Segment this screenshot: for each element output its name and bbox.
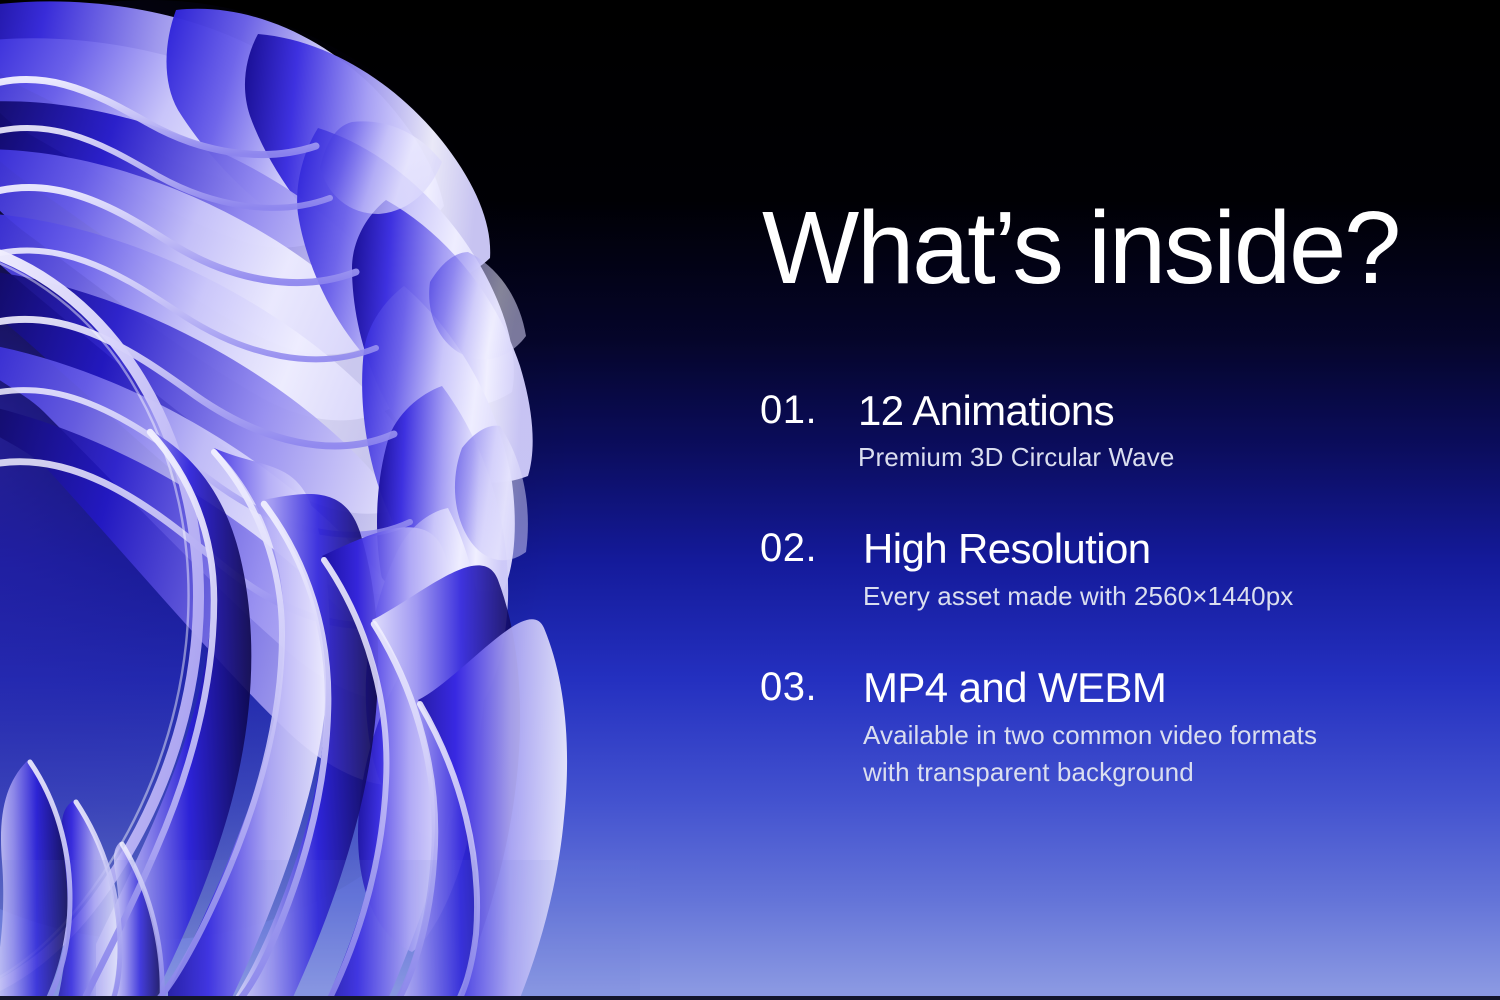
feature-subtitle: Available in two common video formats wi…	[863, 717, 1453, 791]
feature-heading: MP4 and WEBM	[863, 667, 1453, 710]
feature-subtitle-line-1: Every asset made with 2560×1440px	[863, 581, 1293, 611]
feature-number: 02.	[760, 528, 817, 568]
feature-heading: 12 Animations	[858, 390, 1448, 433]
feature-number: 03.	[760, 667, 817, 707]
feature-subtitle: Premium 3D Circular Wave	[858, 439, 1448, 476]
3d-circular-wave-artwork	[0, 0, 640, 1000]
slide-root: What’s inside? 01. 12 Animations Premium…	[0, 0, 1500, 1000]
feature-subtitle-line-1: Available in two common video formats	[863, 720, 1317, 750]
content-column: What’s inside? 01. 12 Animations Premium…	[760, 0, 1460, 1000]
feature-subtitle-line-1: Premium 3D Circular Wave	[858, 442, 1174, 472]
feature-heading: High Resolution	[863, 528, 1453, 571]
feature-body: High Resolution Every asset made with 25…	[863, 528, 1453, 615]
feature-body: 12 Animations Premium 3D Circular Wave	[858, 390, 1448, 476]
feature-subtitle-line-2: with transparent background	[863, 754, 1453, 791]
feature-number: 01.	[760, 390, 817, 430]
artwork-svg	[0, 0, 640, 1000]
bottom-edge-strip	[0, 996, 1500, 1000]
page-title: What’s inside?	[762, 196, 1399, 299]
feature-body: MP4 and WEBM Available in two common vid…	[863, 667, 1453, 791]
feature-subtitle: Every asset made with 2560×1440px	[863, 578, 1453, 615]
